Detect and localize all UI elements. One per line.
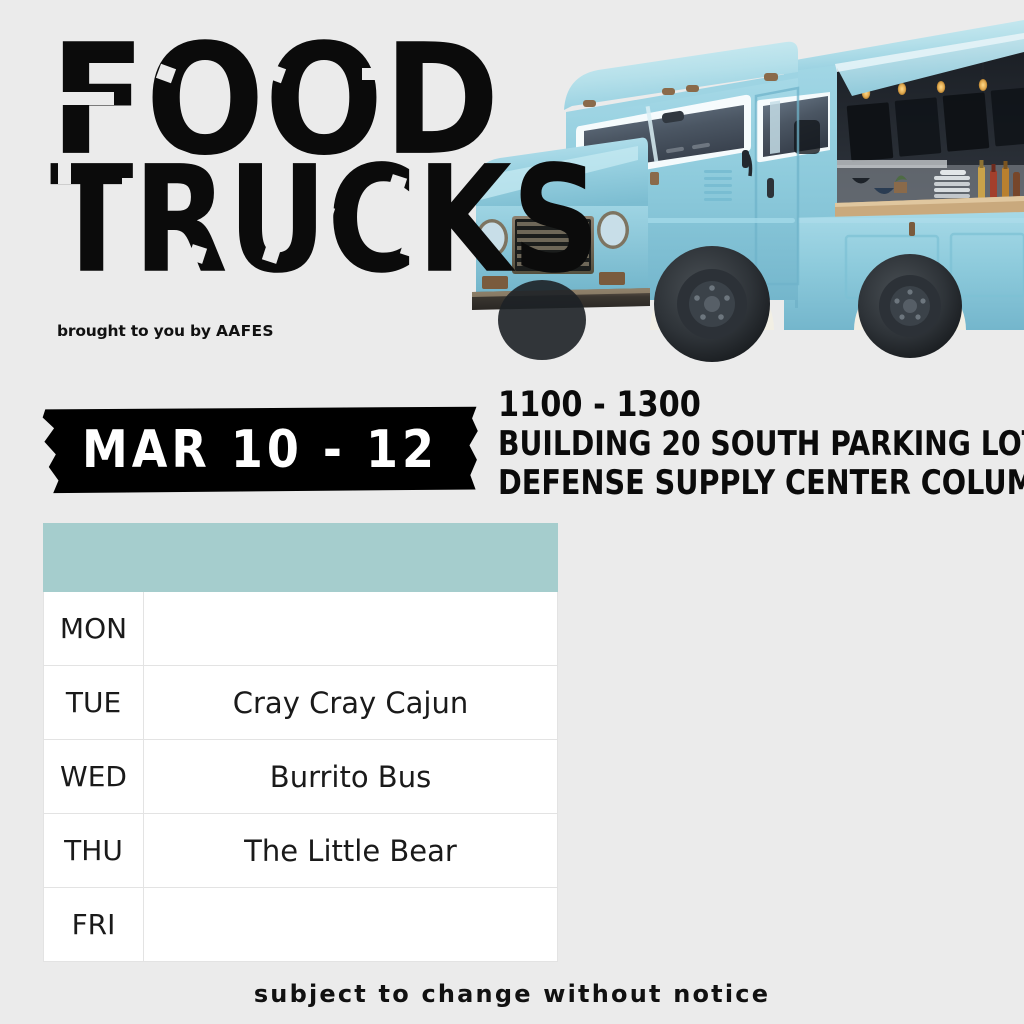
cell-truck: Burrito Bus	[144, 740, 558, 814]
cell-day: MON	[44, 592, 144, 666]
schedule-table-body: MON TUE Cray Cray Cajun WED Burrito Bus …	[44, 592, 558, 962]
column-header-truck	[144, 524, 558, 592]
event-info-block: 1100 - 1300 BUILDING 20 SOUTH PARKING LO…	[498, 390, 1018, 499]
schedule-table-head	[44, 524, 558, 592]
event-location: BUILDING 20 SOUTH PARKING LOT	[498, 428, 987, 462]
cell-truck: Cray Cray Cajun	[144, 666, 558, 740]
cell-truck	[144, 888, 558, 962]
cell-day: FRI	[44, 888, 144, 962]
table-row: MON	[44, 592, 558, 666]
disclaimer-note: subject to change without notice	[0, 980, 1024, 1008]
subtitle-brand: AAFES	[216, 322, 274, 340]
cell-day: THU	[44, 814, 144, 888]
flyer-canvas: FOOD TRUCKS	[0, 0, 1024, 1024]
weekly-schedule-table: MON TUE Cray Cray Cajun WED Burrito Bus …	[43, 523, 558, 962]
table-row: THU The Little Bear	[44, 814, 558, 888]
column-header-day	[44, 524, 144, 592]
title-subtitle: brought to you by AAFES	[57, 322, 274, 340]
cell-truck: The Little Bear	[144, 814, 558, 888]
table-row: TUE Cray Cray Cajun	[44, 666, 558, 740]
event-installation: DEFENSE SUPPLY CENTER COLUMBUS	[498, 467, 995, 501]
date-banner: MAR 10 - 12	[40, 404, 480, 494]
cell-truck	[144, 592, 558, 666]
cell-day: WED	[44, 740, 144, 814]
table-row: WED Burrito Bus	[44, 740, 558, 814]
cell-day: TUE	[44, 666, 144, 740]
table-header-row	[44, 524, 558, 592]
date-range-label: MAR 10 - 12	[40, 399, 480, 500]
event-time: 1100 - 1300	[498, 388, 1008, 423]
subtitle-prefix: brought to you by	[57, 322, 216, 340]
title-line-trucks: TRUCKS	[50, 148, 589, 260]
page-title: FOOD TRUCKS	[50, 38, 470, 259]
table-row: FRI	[44, 888, 558, 962]
title-line-food: FOOD	[50, 38, 474, 148]
